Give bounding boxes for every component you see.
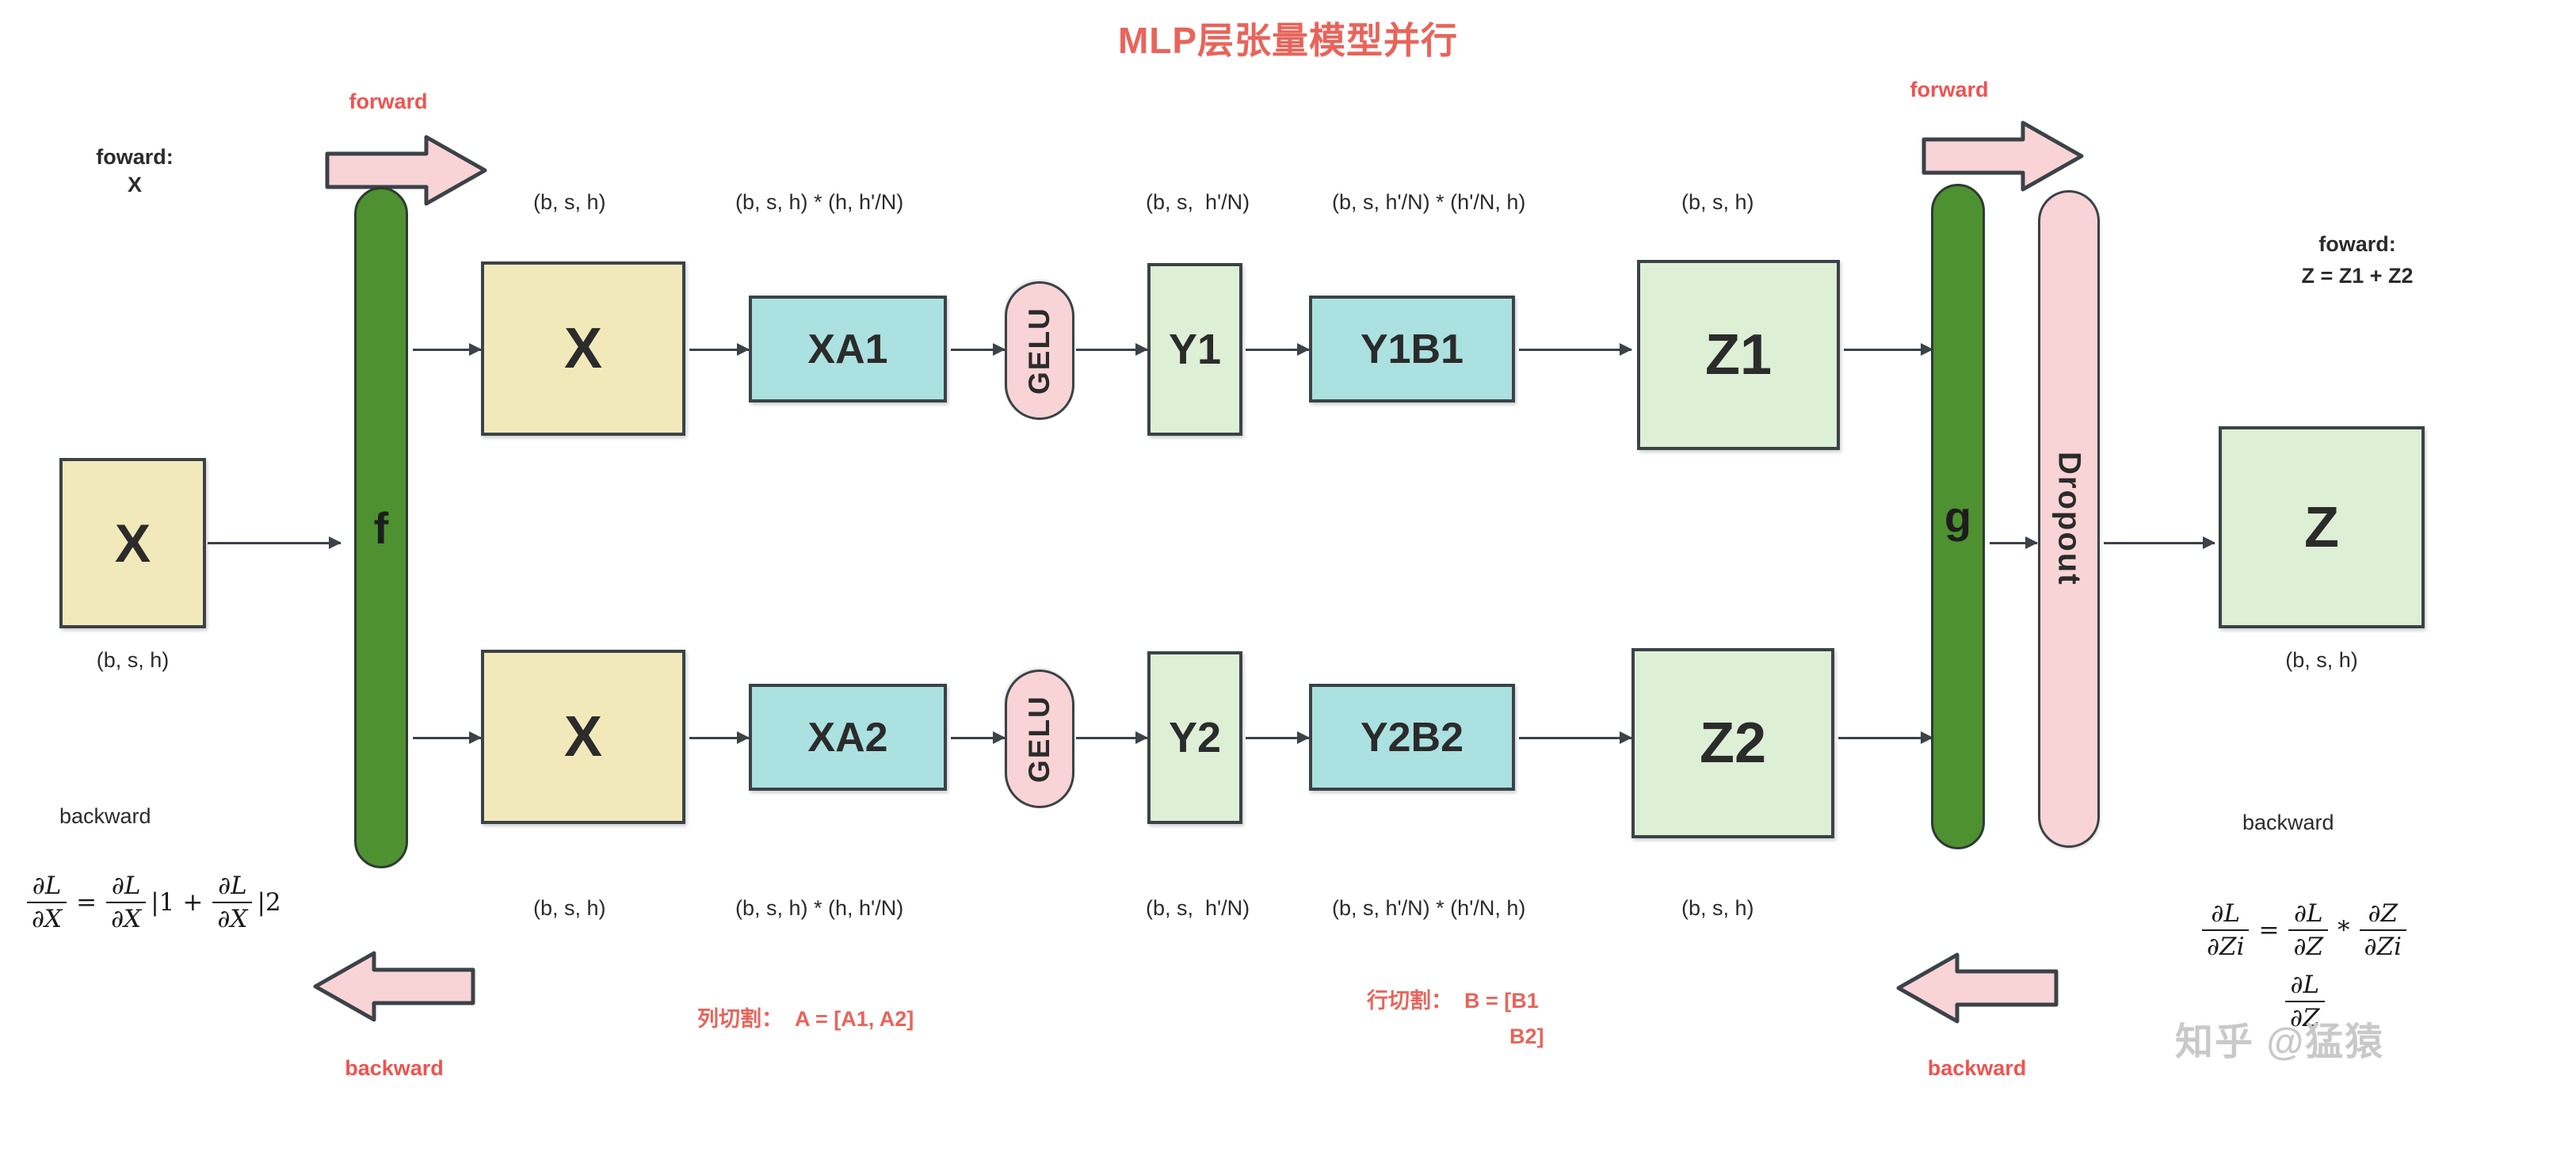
- top-z-label: Z1: [1705, 322, 1772, 387]
- connector-g-to-dropout: [1990, 542, 2037, 544]
- connector-x2-to-xa2: [689, 737, 749, 739]
- f-allreduce-bar: f: [354, 187, 408, 868]
- row-split-note-line1: 行切割： B = [B1: [1367, 986, 1539, 1015]
- connector-gelu1-to-y1: [1076, 349, 1147, 351]
- shape-top-2: (b, s, h'/N): [1146, 188, 1250, 216]
- dropout-pill: Dropout: [2038, 190, 2100, 848]
- right-formula-times: *: [2337, 916, 2350, 944]
- output-z-box: Z: [2219, 426, 2425, 628]
- connector-f-to-x1: [413, 349, 481, 351]
- connector-y2b2-to-z2: [1519, 737, 1631, 739]
- forward-block-arrow-right: [1922, 120, 2084, 192]
- g-bar-label: g: [1944, 491, 1971, 543]
- top-x-label: X: [564, 316, 602, 381]
- g-allreduce-bar: g: [1931, 184, 1985, 849]
- left-forward-arrow-label: forward: [301, 87, 475, 116]
- connector-xa1-to-gelu1: [951, 349, 1005, 351]
- backward-block-arrow-left: [313, 951, 475, 1022]
- bottom-yb-box: Y2B2: [1309, 684, 1515, 791]
- left-forward-note-line1: foward:: [63, 143, 206, 171]
- left-backward-label: backward: [59, 802, 151, 830]
- row-split-note-line2: B2]: [1509, 1022, 1544, 1051]
- bottom-z-label: Z2: [1700, 711, 1766, 776]
- bottom-yb-label: Y2B2: [1361, 714, 1464, 761]
- left-formula-term2: ∂L ∂X: [212, 872, 252, 933]
- top-gelu-label: GELU: [1023, 307, 1056, 395]
- connector-y1-to-y1b1: [1246, 349, 1309, 351]
- bottom-xa-box: XA2: [749, 684, 947, 791]
- bottom-gelu-label: GELU: [1023, 695, 1056, 783]
- right-formula-lhs: ∂L ∂Zi: [2202, 899, 2249, 961]
- connector-y1b1-to-z1: [1519, 349, 1631, 351]
- shape-bottom-0: (b, s, h): [533, 894, 606, 922]
- right-backward-arrow-label: backward: [1878, 1054, 2076, 1082]
- right-backward-label: backward: [2242, 808, 2334, 837]
- connector-z1-to-g: [1844, 349, 1933, 351]
- column-split-note: 列切割： A = [A1, A2]: [697, 1005, 914, 1033]
- connector-y2-to-y2b2: [1246, 737, 1309, 739]
- connector-dropout-to-z: [2104, 542, 2215, 544]
- top-yb-box: Y1B1: [1309, 296, 1515, 403]
- output-z-label: Z: [2304, 495, 2339, 560]
- left-formula-term1: ∂L ∂X: [106, 872, 146, 933]
- bottom-z-box: Z2: [1631, 648, 1834, 838]
- watermark: 知乎 @猛猿: [2175, 1010, 2384, 1066]
- input-x-label: X: [115, 513, 151, 574]
- right-formula-term2: ∂Z ∂Zi: [2360, 899, 2406, 961]
- top-gelu-pill: GELU: [1005, 281, 1074, 420]
- left-formula-equals: =: [76, 888, 97, 917]
- connector-gelu2-to-y2: [1076, 737, 1147, 739]
- shape-bottom-3: (b, s, h'/N) * (h'/N, h): [1332, 894, 1525, 922]
- shape-top-3: (b, s, h'/N) * (h'/N, h): [1332, 188, 1525, 216]
- right-formula-equals: =: [2258, 916, 2279, 944]
- shape-bottom-2: (b, s, h'/N): [1146, 894, 1250, 922]
- backward-block-arrow-right: [1896, 952, 2059, 1024]
- right-formula-term1: ∂L ∂Z: [2288, 899, 2328, 961]
- dropout-label: Dropout: [2051, 452, 2087, 586]
- left-formula-plus: +: [182, 888, 203, 917]
- left-backward-arrow-label: backward: [297, 1054, 491, 1082]
- shape-bottom-1: (b, s, h) * (h, h'/N): [735, 894, 903, 922]
- shape-top-4: (b, s, h): [1681, 188, 1754, 216]
- top-xa-label: XA1: [807, 326, 887, 373]
- shape-bottom-4: (b, s, h): [1681, 894, 1754, 922]
- top-x-box: X: [481, 261, 685, 436]
- connector-xa2-to-gelu2: [951, 737, 1005, 739]
- right-forward-arrow-label: forward: [1854, 75, 2044, 104]
- diagram-canvas: MLP层张量模型并行 foward: X forward X (b, s, h)…: [0, 0, 2576, 1156]
- right-forward-note-line2: Z = Z1 + Z2: [2211, 261, 2504, 290]
- bottom-y-label: Y2: [1169, 713, 1221, 762]
- f-bar-label: f: [374, 502, 389, 554]
- top-yb-label: Y1B1: [1361, 326, 1464, 373]
- connector-x1-to-xa1: [689, 349, 749, 351]
- left-gradient-formula: ∂L ∂X = ∂L ∂X |1 + ∂L ∂X |2: [24, 872, 283, 933]
- left-formula-term2-index: |2: [257, 888, 280, 917]
- left-formula-term1-index: |1: [151, 888, 174, 917]
- page-title: MLP层张量模型并行: [0, 16, 2576, 65]
- top-xa-box: XA1: [749, 296, 947, 403]
- bottom-xa-label: XA2: [807, 714, 887, 761]
- top-y-box: Y1: [1147, 263, 1242, 436]
- bottom-gelu-pill: GELU: [1005, 670, 1074, 808]
- forward-block-arrow-left: [325, 135, 487, 206]
- shape-top-0: (b, s, h): [533, 188, 606, 216]
- input-x-shape: (b, s, h): [48, 646, 218, 674]
- connector-x-to-f: [208, 542, 341, 544]
- right-forward-note-line1: foward:: [2211, 230, 2504, 258]
- shape-top-1: (b, s, h) * (h, h'/N): [735, 188, 903, 216]
- output-z-shape: (b, s, h): [2211, 646, 2433, 674]
- left-forward-note-line2: X: [63, 170, 206, 199]
- bottom-x-label: X: [564, 704, 602, 769]
- top-z-box: Z1: [1637, 260, 1840, 450]
- bottom-x-box: X: [481, 650, 685, 824]
- connector-f-to-x2: [413, 737, 481, 739]
- connector-z2-to-g: [1838, 737, 1933, 739]
- top-y-label: Y1: [1169, 325, 1221, 374]
- input-x-box: X: [59, 458, 206, 628]
- left-formula-lhs: ∂L ∂X: [27, 872, 67, 933]
- bottom-y-box: Y2: [1147, 651, 1242, 824]
- right-gradient-formula: ∂L ∂Zi = ∂L ∂Z * ∂Z ∂Zi: [2199, 899, 2410, 961]
